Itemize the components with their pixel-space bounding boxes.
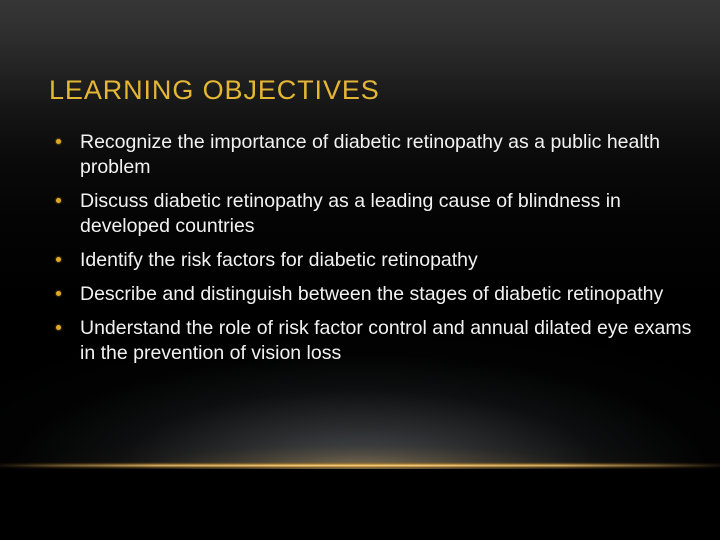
bullet-dot-icon [56, 139, 61, 144]
list-item-text: Understand the role of risk factor contr… [80, 316, 698, 366]
bullet-dot-icon [56, 325, 61, 330]
list-item: Identify the risk factors for diabetic r… [50, 248, 698, 273]
list-item: Discuss diabetic retinopathy as a leadin… [50, 189, 698, 239]
page-title: Learning Objectives [49, 74, 689, 106]
list-item-text: Recognize the importance of diabetic ret… [80, 130, 698, 180]
list-item: Recognize the importance of diabetic ret… [50, 130, 698, 180]
list-item: Understand the role of risk factor contr… [50, 316, 698, 366]
objectives-list: Recognize the importance of diabetic ret… [50, 130, 698, 366]
list-item-text: Identify the risk factors for diabetic r… [80, 248, 698, 273]
list-item: Describe and distinguish between the sta… [50, 282, 698, 307]
slide-content: Learning Objectives Recognize the import… [0, 0, 720, 540]
bullet-dot-icon [56, 257, 61, 262]
bullet-dot-icon [56, 291, 61, 296]
bullet-dot-icon [56, 198, 61, 203]
presentation-slide: Learning Objectives Recognize the import… [0, 0, 720, 540]
list-item-text: Discuss diabetic retinopathy as a leadin… [80, 189, 698, 239]
list-item-text: Describe and distinguish between the sta… [80, 282, 698, 307]
